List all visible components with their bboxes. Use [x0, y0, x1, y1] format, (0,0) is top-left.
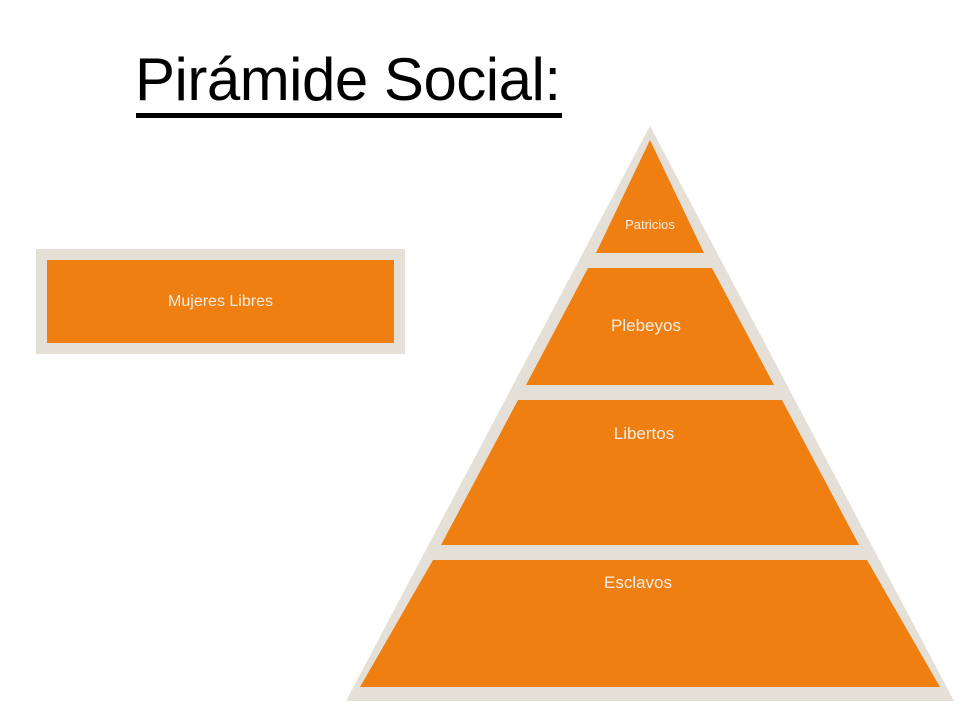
page-title: Pirámide Social:	[135, 46, 735, 126]
pyramid-tier-plebeyos	[526, 268, 774, 385]
social-pyramid: Patricios Plebeyos Libertos Esclavos	[340, 120, 960, 710]
slide-canvas: Pirámide Social: Mujeres Libres Patricio…	[0, 0, 960, 720]
title-underline	[136, 113, 562, 118]
page-title-text: Pirámide Social:	[135, 46, 735, 114]
pyramid-tier-patricios	[596, 140, 704, 253]
side-box-label: Mujeres Libres	[168, 293, 273, 311]
pyramid-tier-esclavos	[360, 560, 940, 687]
pyramid-svg	[340, 120, 960, 710]
